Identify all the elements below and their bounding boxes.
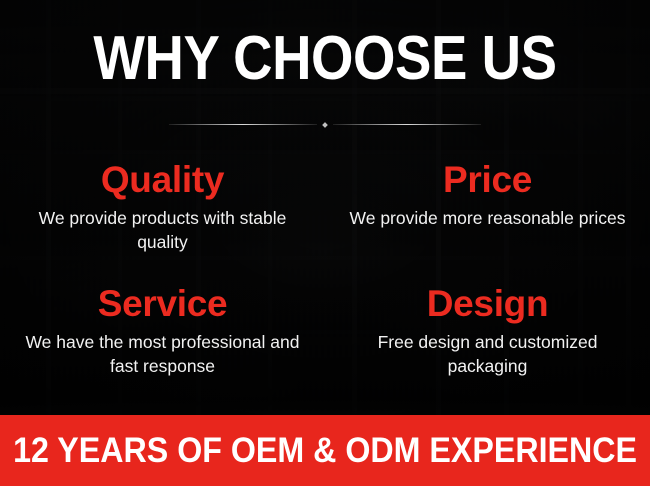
diamond-dot-icon — [322, 122, 328, 128]
experience-footer-bar: 12 YEARS OF OEM & ODM EXPERIENCE — [0, 415, 650, 486]
divider-rule-left — [169, 124, 317, 125]
why-choose-us-banner: WHY CHOOSE US Quality We provide product… — [0, 0, 650, 486]
feature-title: Design — [339, 282, 636, 326]
feature-price: Price We provide more reasonable prices — [325, 158, 650, 254]
feature-title: Price — [339, 158, 636, 202]
footer-text: 12 YEARS OF OEM & ODM EXPERIENCE — [13, 433, 637, 468]
divider-rule-right — [333, 124, 481, 125]
banner-content: WHY CHOOSE US Quality We provide product… — [0, 0, 650, 486]
feature-title: Service — [14, 282, 311, 326]
feature-description: Free design and customized packaging — [339, 330, 636, 378]
title-divider — [167, 120, 483, 129]
feature-description: We provide more reasonable prices — [339, 206, 636, 230]
feature-quality: Quality We provide products with stable … — [0, 158, 325, 254]
feature-description: We provide products with stable quality — [14, 206, 311, 254]
page-title: WHY CHOOSE US — [39, 28, 611, 90]
feature-title: Quality — [14, 158, 311, 202]
feature-design: Design Free design and customized packag… — [325, 282, 650, 378]
feature-service: Service We have the most professional an… — [0, 282, 325, 378]
features-grid: Quality We provide products with stable … — [0, 158, 650, 378]
feature-description: We have the most professional and fast r… — [14, 330, 311, 378]
